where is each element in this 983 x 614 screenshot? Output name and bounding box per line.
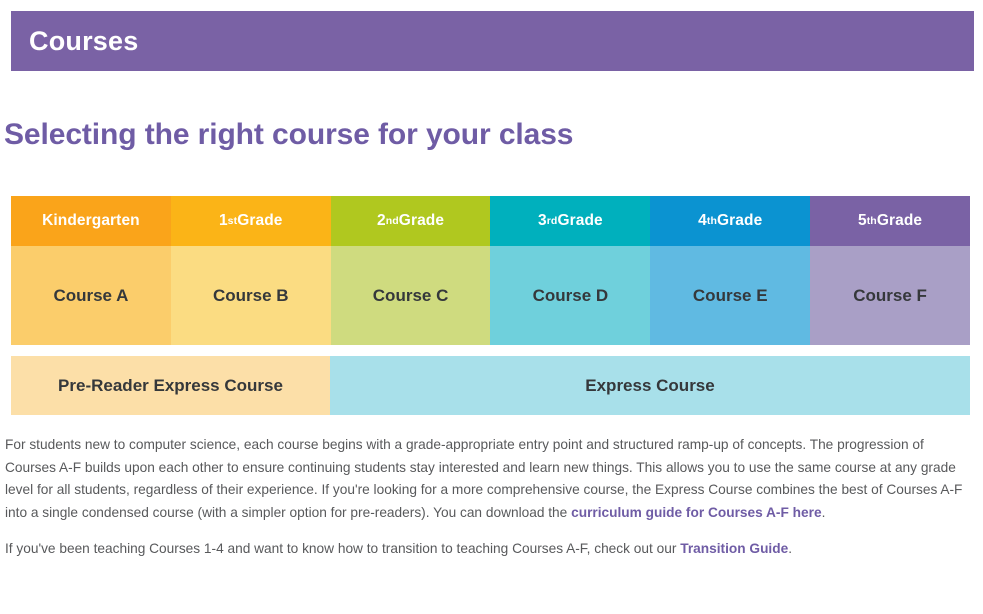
course-label: Course A <box>53 286 128 306</box>
course-row: Course ACourse BCourse CCourse DCourse E… <box>11 246 970 345</box>
grade-label: Kindergarten <box>42 212 140 230</box>
grade-number: 1 <box>219 212 228 230</box>
grade-word: Grade <box>877 212 922 230</box>
grade-header-row: Kindergarten1st Grade2nd Grade3rd Grade4… <box>11 196 970 246</box>
paragraph-1-text-part-2: . <box>822 505 826 520</box>
express-course-row: Pre-Reader Express Course Express Course <box>11 356 970 415</box>
grade-header-cell: 1st Grade <box>171 196 331 246</box>
grade-course-table: Kindergarten1st Grade2nd Grade3rd Grade4… <box>11 196 970 345</box>
prereader-express-label: Pre-Reader Express Course <box>58 376 283 396</box>
grade-number: 4 <box>698 212 707 230</box>
express-course-label: Express Course <box>585 376 714 396</box>
page-banner: Courses <box>11 11 974 71</box>
express-course-cell: Express Course <box>330 356 970 415</box>
grade-word: Grade <box>717 212 762 230</box>
course-label: Course B <box>213 286 289 306</box>
page-title: Courses <box>29 26 138 57</box>
paragraph-2-text-part-1: If you've been teaching Courses 1-4 and … <box>5 541 680 556</box>
grade-word: Grade <box>557 212 602 230</box>
grade-word: Grade <box>399 212 444 230</box>
course-cell: Course B <box>171 246 331 345</box>
grade-number: 5 <box>858 212 867 230</box>
course-cell: Course E <box>650 246 810 345</box>
body-copy: For students new to computer science, ea… <box>5 434 968 561</box>
grade-word: Grade <box>237 212 282 230</box>
course-cell: Course D <box>490 246 650 345</box>
course-label: Course F <box>853 286 927 306</box>
course-label: Course E <box>693 286 768 306</box>
course-label: Course D <box>533 286 609 306</box>
course-label: Course C <box>373 286 449 306</box>
course-cell: Course F <box>810 246 970 345</box>
paragraph-transition: If you've been teaching Courses 1-4 and … <box>5 538 968 561</box>
grade-header-cell: 3rd Grade <box>490 196 650 246</box>
curriculum-guide-link[interactable]: curriculum guide for Courses A-F here <box>571 505 821 520</box>
grade-header-cell: 4th Grade <box>650 196 810 246</box>
course-cell: Course C <box>331 246 491 345</box>
grade-header-cell: Kindergarten <box>11 196 171 246</box>
paragraph-courses-overview: For students new to computer science, ea… <box>5 434 968 524</box>
prereader-express-cell: Pre-Reader Express Course <box>11 356 330 415</box>
page-root: Courses Selecting the right course for y… <box>0 0 983 614</box>
grade-number: 2 <box>377 212 386 230</box>
course-cell: Course A <box>11 246 171 345</box>
paragraph-2-text-part-2: . <box>788 541 792 556</box>
section-heading: Selecting the right course for your clas… <box>4 118 573 152</box>
grade-number: 3 <box>538 212 547 230</box>
grade-header-cell: 2nd Grade <box>331 196 491 246</box>
transition-guide-link[interactable]: Transition Guide <box>680 541 788 556</box>
grade-header-cell: 5th Grade <box>810 196 970 246</box>
